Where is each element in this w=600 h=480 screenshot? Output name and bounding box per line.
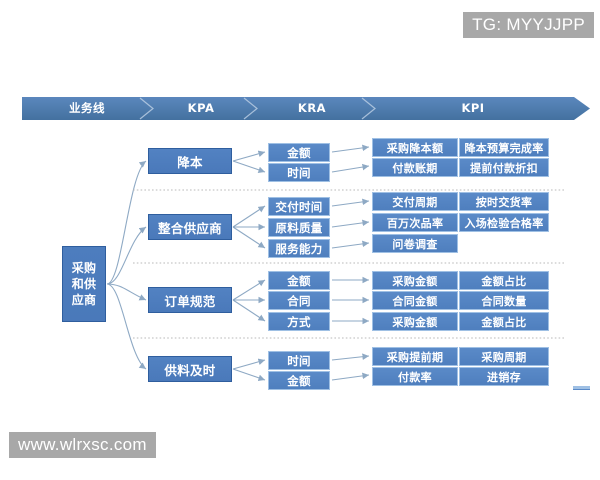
kra-box-row3[interactable]: 订单规范 (148, 287, 232, 313)
watermark-top: TG: MYYJJPP (463, 12, 594, 38)
kpi-box-row3-0-c2[interactable]: 金额占比 (459, 271, 549, 290)
kpi-box-row2-1-c2[interactable]: 入场检验合格率 (459, 213, 549, 232)
kpa-box-row3-0[interactable]: 金额 (268, 271, 330, 290)
kpi-box-row3-2-c2[interactable]: 金额占比 (459, 312, 549, 331)
kpa-box-row1-0[interactable]: 金额 (268, 143, 330, 162)
header-segment-kra[interactable]: KRA (260, 97, 364, 120)
kra-box-row2[interactable]: 整合供应商 (148, 214, 232, 240)
kpa-box-row2-0[interactable]: 交付时间 (268, 197, 330, 216)
kpa-box-row3-1[interactable]: 合同 (268, 291, 330, 310)
kpa-box-row4-1[interactable]: 金额 (268, 371, 330, 390)
process-arrow-bar: 业务线 KPA KRA KPI (22, 97, 590, 120)
diagram-canvas: TG: MYYJJPP www.wlrxsc.com 业务线 KPA KRA K… (0, 0, 600, 480)
kpi-box-row3-0-c1[interactable]: 采购金额 (372, 271, 458, 290)
kra-box-row1[interactable]: 降本 (148, 148, 232, 174)
kpi-box-row4-0-c1[interactable]: 采购提前期 (372, 347, 458, 366)
root-line-1: 采购 (72, 260, 97, 276)
watermark-bottom: www.wlrxsc.com (9, 432, 156, 458)
kpi-box-row1-1-c1[interactable]: 付款账期 (372, 158, 458, 177)
kpa-box-row2-1[interactable]: 原料质量 (268, 218, 330, 237)
stray-tick-mark (573, 386, 590, 390)
kra-box-row4[interactable]: 供料及时 (148, 356, 232, 382)
root-line-2: 和供 (72, 276, 97, 292)
root-node-procurement-and-supplier[interactable]: 采购 和供 应商 (62, 246, 106, 322)
kpa-box-row1-1[interactable]: 时间 (268, 163, 330, 182)
kpi-box-row4-0-c2[interactable]: 采购周期 (459, 347, 549, 366)
kpi-box-row2-0-c2[interactable]: 按时交货率 (459, 192, 549, 211)
kpi-box-row2-1-c1[interactable]: 百万次品率 (372, 213, 458, 232)
header-segment-kpa[interactable]: KPA (156, 97, 246, 120)
kpi-box-row3-2-c1[interactable]: 采购金额 (372, 312, 458, 331)
kpi-box-row3-1-c1[interactable]: 合同金额 (372, 291, 458, 310)
header-segment-kpi[interactable]: KPI (378, 97, 568, 120)
kpi-box-row1-0-c2[interactable]: 降本预算完成率 (459, 138, 549, 157)
kpi-box-row3-1-c2[interactable]: 合同数量 (459, 291, 549, 310)
kpi-box-row4-1-c2[interactable]: 进销存 (459, 367, 549, 386)
kpa-box-row4-0[interactable]: 时间 (268, 351, 330, 370)
root-line-3: 应商 (72, 292, 97, 308)
kpa-box-row2-2[interactable]: 服务能力 (268, 239, 330, 258)
kpi-box-row2-2-c1[interactable]: 问卷调查 (372, 234, 458, 253)
kpi-box-row1-1-c2[interactable]: 提前付款折扣 (459, 158, 549, 177)
kpi-box-row4-1-c1[interactable]: 付款率 (372, 367, 458, 386)
kpi-box-row1-0-c1[interactable]: 采购降本额 (372, 138, 458, 157)
kpa-box-row3-2[interactable]: 方式 (268, 312, 330, 331)
kpi-box-row2-0-c1[interactable]: 交付周期 (372, 192, 458, 211)
header-segment-business-line[interactable]: 业务线 (32, 97, 142, 120)
